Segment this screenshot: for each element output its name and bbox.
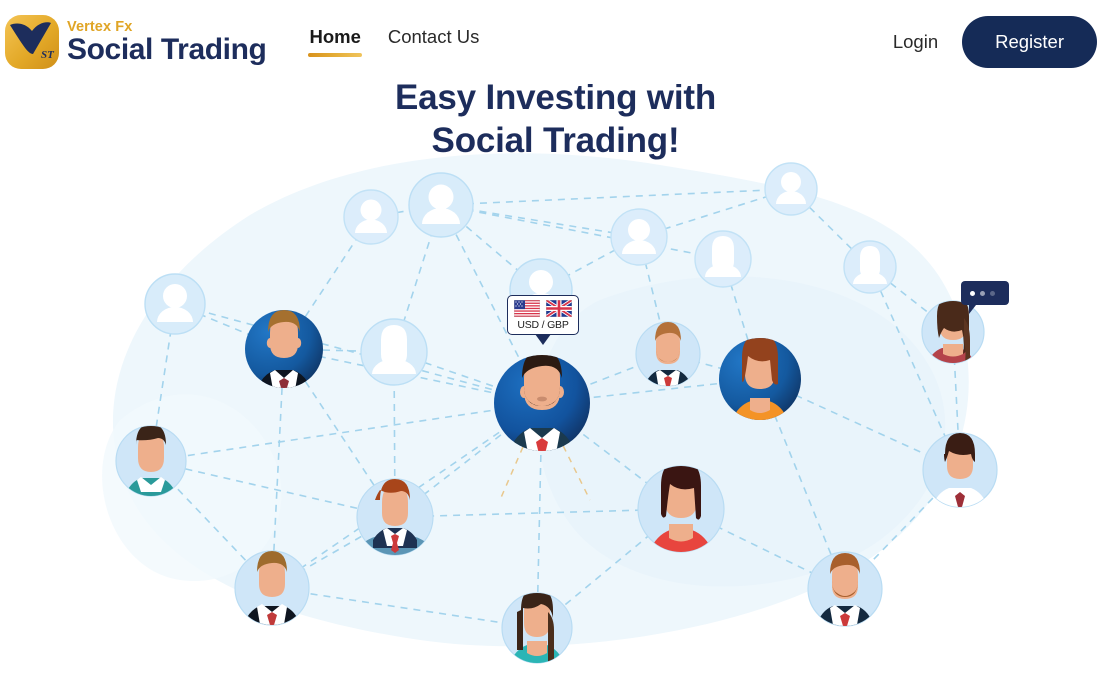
- page-title: Easy Investing with Social Trading!: [0, 76, 1111, 162]
- tooltip-arrow: [535, 334, 551, 345]
- brand-monogram: ST: [41, 49, 55, 61]
- main-navigation: Home Contact Us: [308, 24, 480, 61]
- nav-item-contact-us-label: Contact Us: [388, 26, 480, 47]
- nav-item-contact-us[interactable]: Contact Us: [387, 24, 481, 61]
- brand-logo[interactable]: ST Vertex Fx Social Trading: [4, 14, 266, 70]
- headline-line-2: Social Trading!: [432, 121, 680, 160]
- header-actions: Login Register: [893, 16, 1097, 68]
- member-avatar-white-shirt-tie: [923, 433, 997, 522]
- member-avatar-suit-brown-hair: [235, 551, 309, 639]
- chat-dot-1: [970, 291, 975, 296]
- currency-pair-label: USD / GBP: [512, 319, 574, 331]
- tooltip-flags: [512, 300, 574, 317]
- currency-pair-tooltip[interactable]: USD / GBP: [507, 295, 579, 335]
- member-avatar-bearded-right: [808, 552, 882, 640]
- login-link[interactable]: Login: [893, 31, 938, 53]
- uk-flag-icon: [546, 300, 572, 317]
- nav-item-home-label: Home: [309, 26, 360, 47]
- chat-bubble-icon[interactable]: [961, 281, 1009, 305]
- site-header: ST Vertex Fx Social Trading Home Contact…: [0, 0, 1111, 84]
- chat-bubble-tail: [969, 305, 981, 314]
- chat-dot-3: [990, 291, 995, 296]
- brand-main-text: Social Trading: [67, 35, 266, 65]
- us-flag-icon: [514, 300, 540, 317]
- nav-item-home[interactable]: Home: [308, 24, 361, 61]
- brand-wordmark: Vertex Fx Social Trading: [67, 19, 266, 65]
- nav-active-underline: [308, 53, 361, 57]
- landing-page: USD / GBP Easy Investing with Social Tra…: [0, 0, 1111, 673]
- vertex-checkmark-logo-icon: ST: [4, 14, 60, 70]
- chat-dot-2: [980, 291, 985, 296]
- register-button[interactable]: Register: [962, 16, 1097, 68]
